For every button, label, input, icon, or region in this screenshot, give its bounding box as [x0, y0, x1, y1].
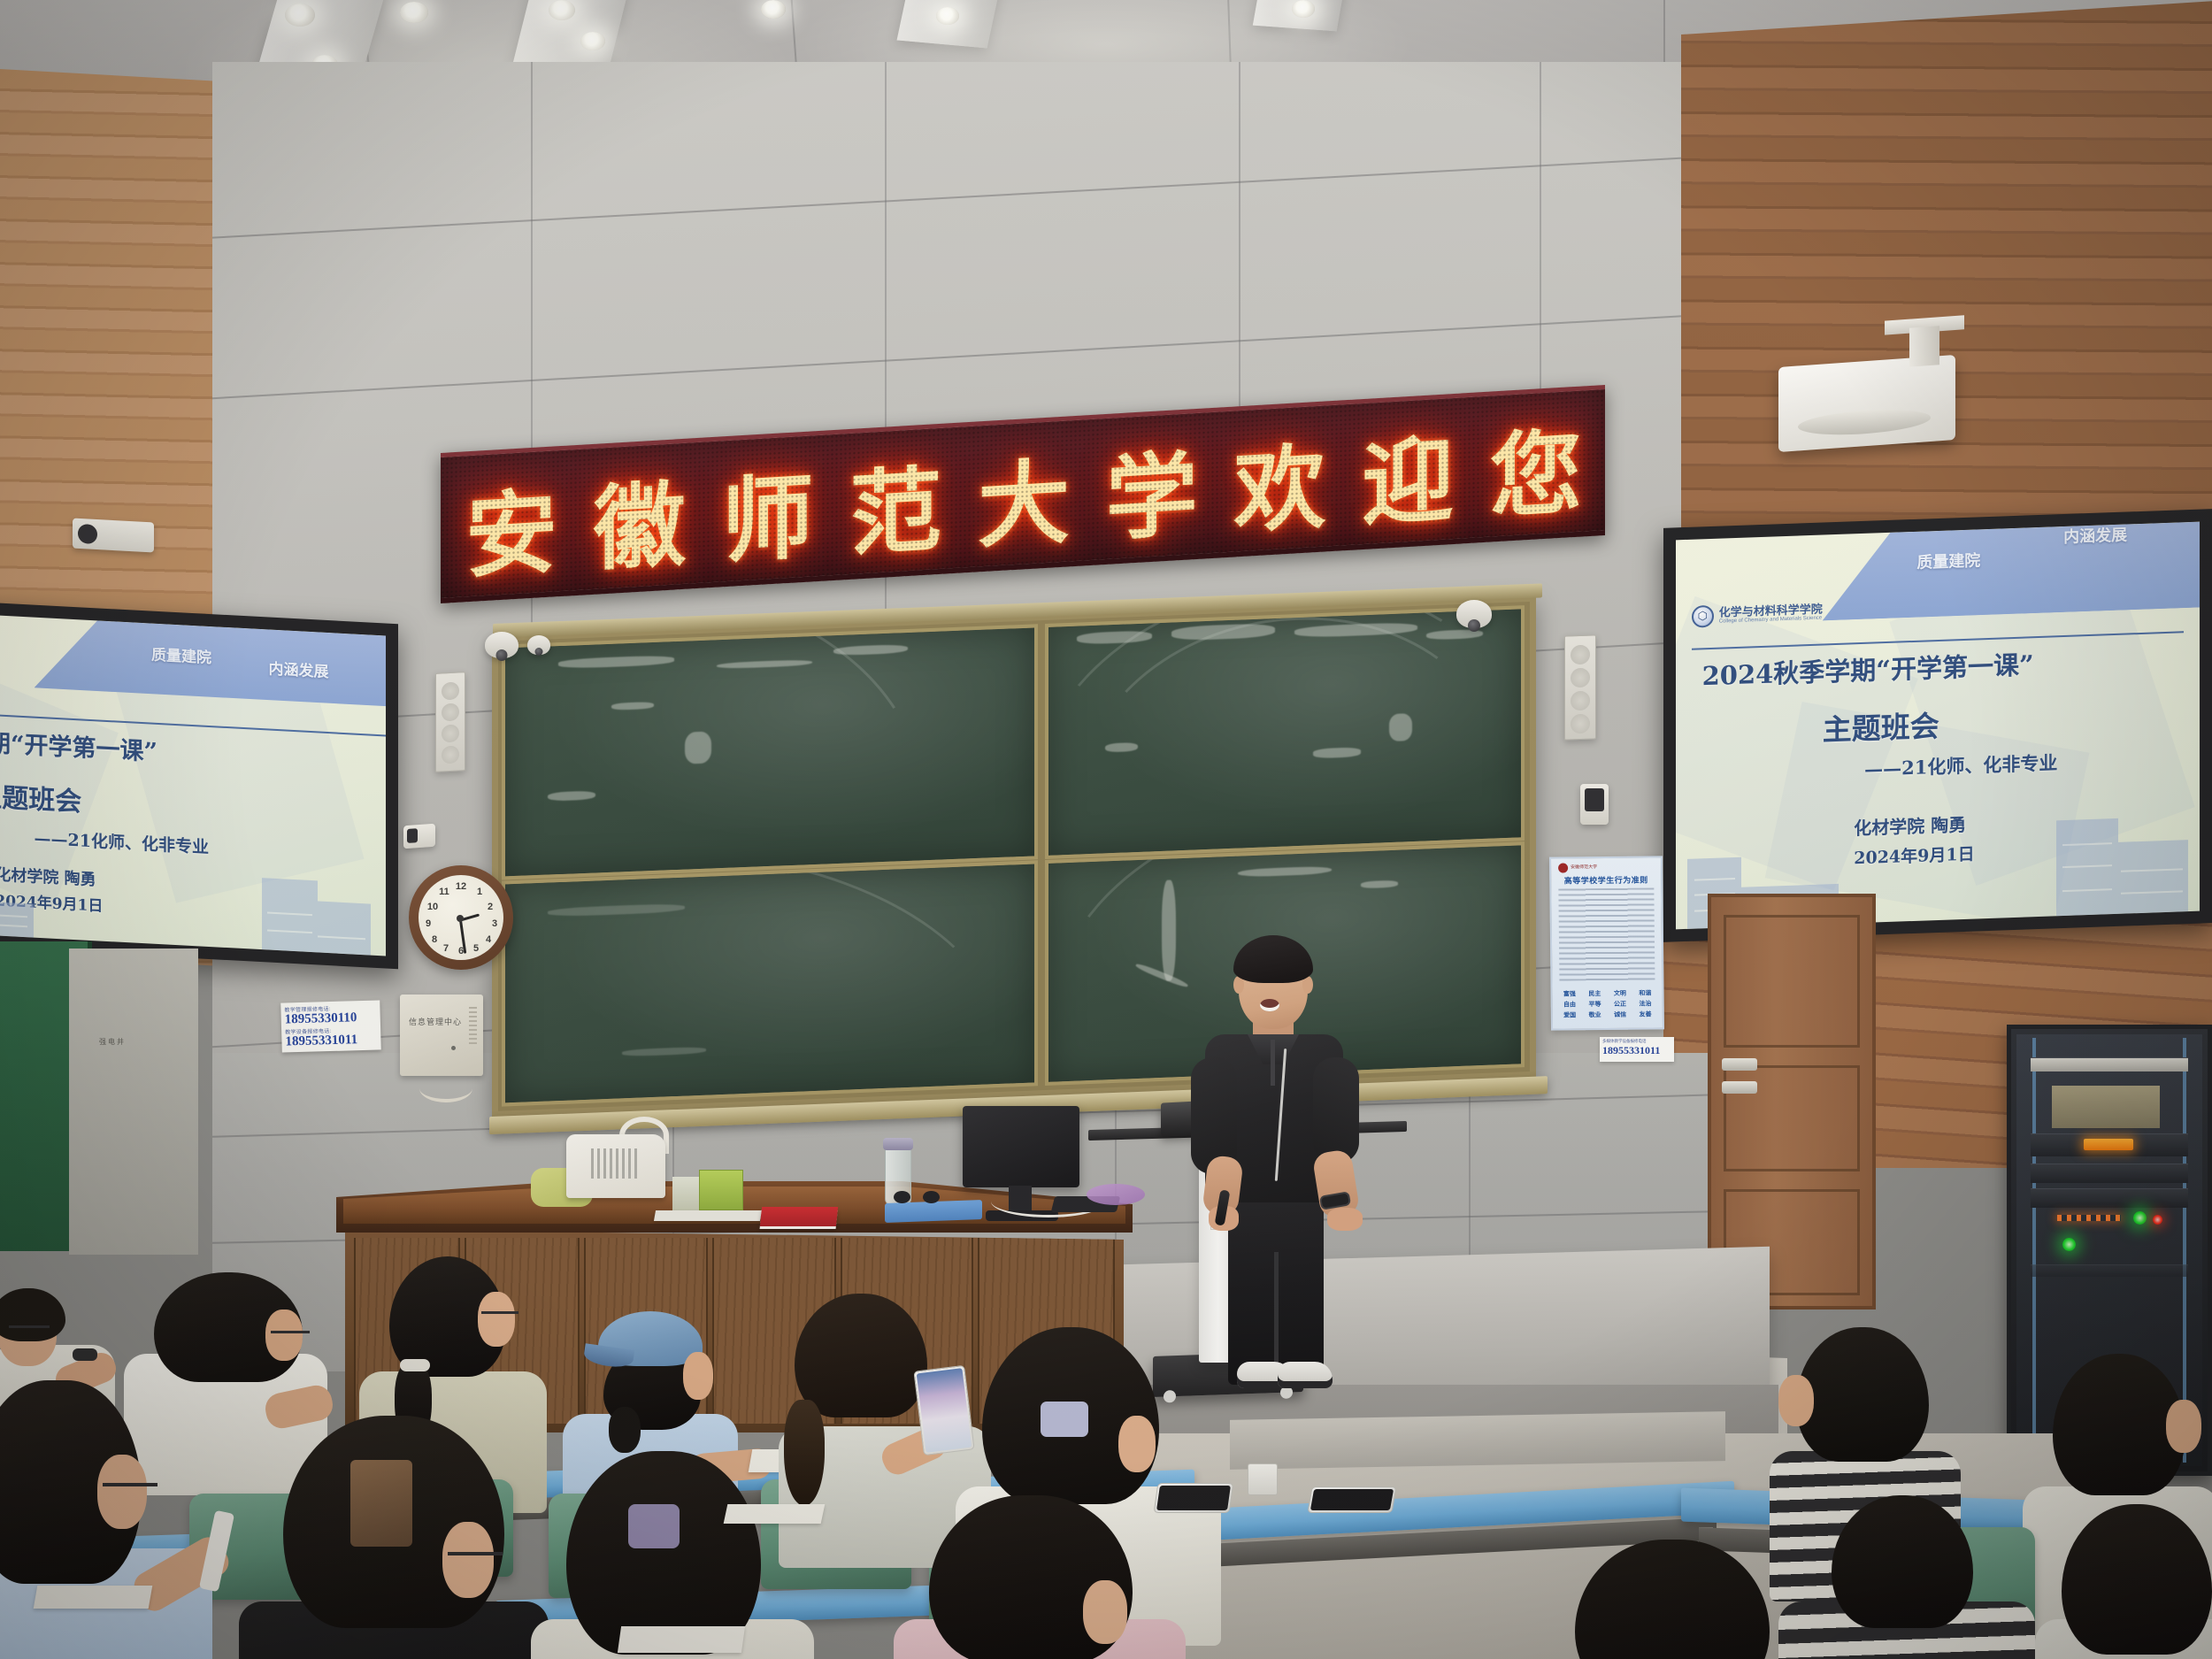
- dome-sensor: [485, 632, 518, 658]
- clock-numeral: 2: [484, 902, 496, 912]
- core-value: 民主: [1583, 989, 1607, 998]
- rack-power-led-green: [2062, 1238, 2076, 1251]
- repair-number-2: 18955331011: [285, 1033, 377, 1049]
- student: [1778, 1495, 2044, 1659]
- smartphone[interactable]: [1307, 1486, 1396, 1513]
- equipment-repair-number: 18955331011: [1602, 1044, 1671, 1057]
- ceiling-camera: [73, 518, 154, 553]
- rack-status-led-red: [2153, 1215, 2162, 1225]
- wall-outlet[interactable]: [1248, 1463, 1278, 1495]
- clock-numeral: 9: [422, 918, 434, 929]
- led-char: 范: [849, 434, 941, 572]
- hair-clip: [628, 1504, 680, 1548]
- rack-power-led-green: [2133, 1211, 2147, 1225]
- right-slide: 质量建院 内涵发展 ⬡ 化学与材料科学学院 College of Chemist…: [1676, 522, 2200, 930]
- projector-lens-icon: [1798, 406, 1931, 438]
- led-char: 徽: [594, 449, 686, 588]
- clock-numeral: 11: [438, 887, 450, 897]
- wall-clock: 12 1 2 3 4 5 6 7 8 9 10 11: [409, 865, 513, 970]
- led-char: 您: [1490, 396, 1582, 535]
- slide-slogan-left: 质量建院: [1916, 549, 1980, 574]
- hair-clip: [350, 1460, 412, 1547]
- wall-camera: [1580, 784, 1609, 825]
- notebook-page: [618, 1626, 745, 1653]
- desk-box: [672, 1177, 703, 1210]
- notebook-page: [724, 1504, 826, 1524]
- slide-line-4: 化材学院 陶勇: [1854, 810, 1966, 840]
- university-seal-icon: [1558, 863, 1568, 872]
- led-char: 迎: [1362, 403, 1454, 542]
- left-slide: 质量建院 内涵发展 ⬡ 化学与材料科学学院 College of Chemist…: [0, 611, 386, 956]
- core-value: 自由: [1558, 1000, 1582, 1009]
- rack-unit: [2031, 1264, 2188, 1277]
- student: [0, 1380, 230, 1659]
- rack-unit: [2031, 1188, 2188, 1208]
- clock-numeral: 1: [473, 887, 486, 897]
- left-wood-door[interactable]: [196, 936, 273, 1265]
- clock-numeral: 5: [470, 943, 482, 954]
- poster-core-values: 富强 民主 文明 和谐 自由 平等 公正 法治 爱国 敬业 诚信 友善: [1558, 988, 1657, 1019]
- core-value: 友善: [1633, 1010, 1657, 1018]
- clock-center-pin: [457, 915, 464, 922]
- rack-unit: [2052, 1086, 2160, 1128]
- poster-body-text: [1558, 887, 1655, 980]
- core-value: 文明: [1609, 989, 1632, 998]
- slide-slogan-right: 内涵发展: [2063, 523, 2127, 549]
- poster-title: 高等学校学生行为准则: [1551, 873, 1661, 886]
- clock-numeral: 4: [482, 934, 495, 945]
- red-notebook: [760, 1207, 838, 1226]
- clock-numeral: 8: [428, 934, 441, 945]
- core-value: 法治: [1633, 999, 1657, 1008]
- tote-bag-print: [591, 1148, 639, 1179]
- projector: [1778, 355, 1955, 452]
- repair-phone-sign: 教学管理报修电话: 18955330110 教学设备报修电话: 18955331…: [280, 1000, 381, 1052]
- intercom-label: 信息管理中心: [409, 1016, 462, 1027]
- water-bottle-cap: [883, 1138, 913, 1150]
- student: [2035, 1504, 2212, 1659]
- core-value: 和谐: [1633, 988, 1657, 997]
- wristband: [73, 1348, 97, 1361]
- presenter-hair: [1233, 935, 1313, 983]
- intercom-unit[interactable]: 信息管理中心: [400, 995, 483, 1076]
- led-char: 大: [978, 426, 1070, 565]
- led-char: 师: [721, 442, 813, 580]
- desktop-monitor: [963, 1106, 1079, 1187]
- core-value: 敬业: [1583, 1010, 1607, 1019]
- core-value: 爱国: [1558, 1010, 1582, 1019]
- slide-header: 质量建院 内涵发展: [0, 611, 386, 707]
- equipment-repair-sign: 多媒体教学设备报修电话 18955331011: [1600, 1037, 1674, 1062]
- hair-tie: [400, 1359, 430, 1371]
- wall-speaker: [1564, 634, 1596, 740]
- eyeglasses: [894, 1191, 940, 1203]
- wall-camera: [403, 824, 435, 849]
- intercom-cord: [419, 1074, 472, 1102]
- chalkboard-panel: [1045, 605, 1525, 858]
- dome-sensor: [1456, 600, 1492, 628]
- rack-unit: [2031, 1057, 2188, 1071]
- student: [221, 1416, 557, 1659]
- utility-door-label: 强电井: [99, 1037, 126, 1047]
- intercom-led-icon: [451, 1046, 456, 1050]
- stage-step: [1230, 1411, 1725, 1470]
- rack-led-row: [2057, 1215, 2121, 1221]
- mouse-pad: [1087, 1184, 1145, 1205]
- dome-sensor: [527, 635, 550, 655]
- clock-numeral: 10: [426, 902, 439, 912]
- desk-paper: [654, 1210, 762, 1221]
- utility-door[interactable]: 强电井: [69, 949, 198, 1255]
- presenter-hand: [1327, 1208, 1363, 1231]
- student-code-poster: 安徽师范大学 高等学校学生行为准则 富强 民主 文明 和谐 自由 平等 公正 法…: [1549, 856, 1664, 1030]
- core-value: 富强: [1558, 989, 1582, 998]
- slide-line-5: 2024年9月1日: [1854, 841, 1974, 870]
- notebook-page: [34, 1586, 153, 1609]
- student: [894, 1495, 1186, 1659]
- classroom-photo-scene: 安 徽 师 范 大 学 欢 迎 您: [0, 0, 2212, 1659]
- rack-unit: [2031, 1164, 2188, 1183]
- led-char: 安: [465, 457, 557, 595]
- wall-speaker: [435, 672, 465, 772]
- slide-slogan-left: 质量建院: [151, 641, 211, 667]
- chalkboard-panel: [502, 624, 1038, 879]
- led-char: 学: [1106, 419, 1198, 557]
- clock-numeral: 12: [455, 881, 467, 892]
- core-value: 诚信: [1609, 1010, 1632, 1019]
- core-value: 公正: [1609, 1000, 1632, 1009]
- left-projection-screen: 质量建院 内涵发展 ⬡ 化学与材料科学学院 College of Chemist…: [0, 597, 398, 969]
- college-logo-icon: ⬡: [1692, 605, 1714, 628]
- door-handle[interactable]: [1722, 1081, 1757, 1094]
- slide-line-2: 主题班会: [0, 774, 81, 818]
- poster-org: 安徽师范大学: [1571, 864, 1597, 870]
- chalkboard-panel: [502, 860, 1038, 1106]
- slide-slogan-right: 内涵发展: [269, 657, 329, 682]
- green-tissue-box: [699, 1170, 743, 1210]
- intercom-vent: [469, 1007, 477, 1046]
- clock-numeral: 3: [488, 918, 501, 929]
- slide-line-2: 主题班会: [1823, 703, 1939, 749]
- led-char: 欢: [1233, 411, 1325, 550]
- door-handle[interactable]: [1722, 1058, 1757, 1071]
- rack-display: [2084, 1139, 2133, 1150]
- core-value: 平等: [1583, 1000, 1607, 1009]
- presenter: [1186, 925, 1380, 1385]
- clock-numeral: 7: [440, 943, 452, 954]
- presenter-shoe: [1278, 1362, 1333, 1388]
- hair-clip: [1041, 1402, 1088, 1437]
- right-projection-screen: 质量建院 内涵发展 ⬡ 化学与材料科学学院 College of Chemist…: [1663, 509, 2212, 942]
